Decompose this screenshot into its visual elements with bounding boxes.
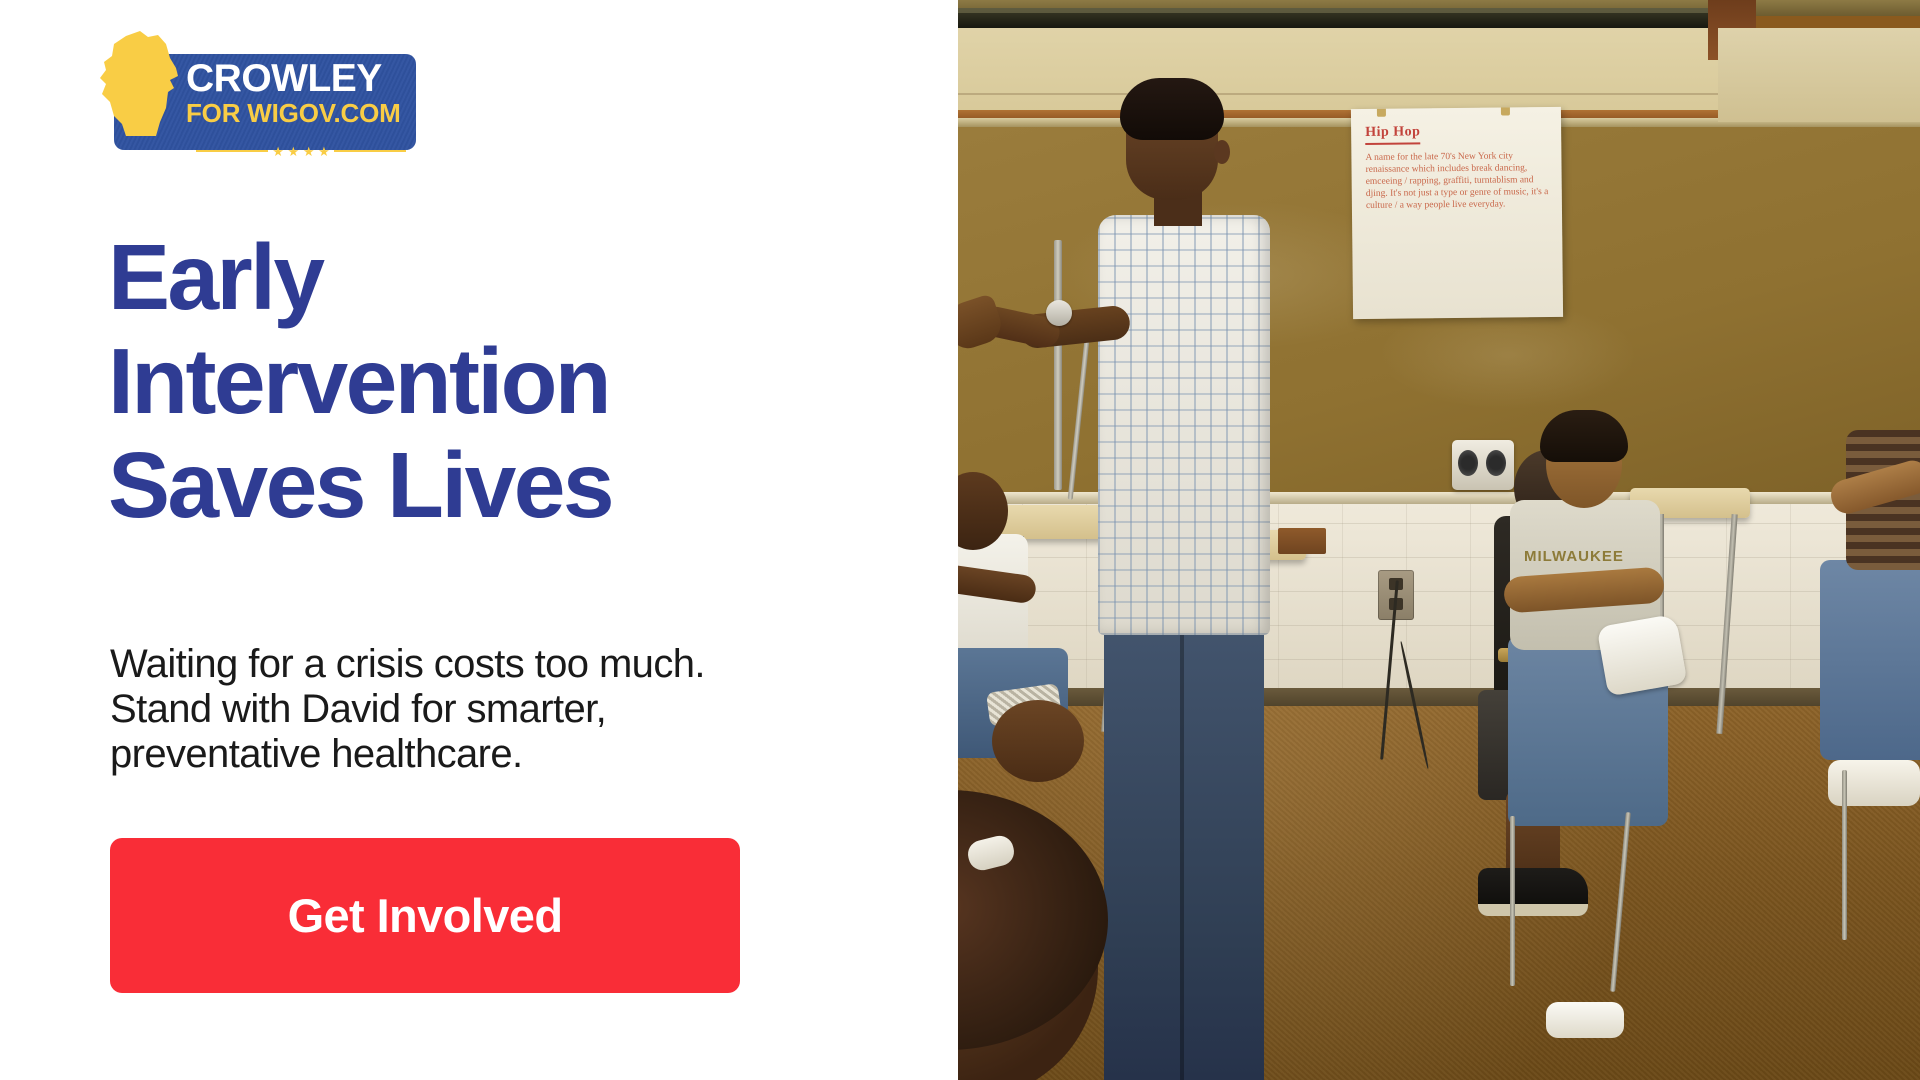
classroom-photo: Hip Hop A name for the late 70's New Yor… <box>958 0 1920 1080</box>
subheadline-line-3: preventative healthcare. <box>110 732 910 777</box>
student-milwaukee-shoe-up <box>1597 614 1688 697</box>
flipchart-paper: Hip Hop A name for the late 70's New Yor… <box>1351 107 1563 319</box>
student-center-shoe-sole <box>1478 904 1588 916</box>
logo-wordmark: CROWLEY FOR WIGOV.COM <box>186 58 414 128</box>
student-right-jeans <box>1820 560 1920 760</box>
content-panel: CROWLEY FOR WIGOV.COM ★ ★ ★ ★ Early Inte… <box>0 0 958 1080</box>
chair-leg-3 <box>1842 770 1847 940</box>
subheadline-line-2: Stand with David for smarter, <box>110 687 910 732</box>
portable-speaker <box>1452 440 1514 490</box>
speaker-ear <box>1214 140 1230 164</box>
logo-stars-glyphs: ★ ★ ★ ★ <box>272 145 329 158</box>
logo-star-row: ★ ★ ★ ★ <box>196 144 406 158</box>
campaign-logo[interactable]: CROWLEY FOR WIGOV.COM ★ ★ ★ ★ <box>96 26 416 150</box>
wall-plate <box>1278 528 1326 554</box>
subheadline: Waiting for a crisis costs too much. Sta… <box>110 642 910 777</box>
student-shirt-text: MILWAUKEE <box>1524 548 1646 565</box>
wall-right-upper <box>1718 28 1920 122</box>
speaker-jeans <box>1104 620 1264 1080</box>
subheadline-line-1: Waiting for a crisis costs too much. <box>110 642 910 687</box>
landing-page: CROWLEY FOR WIGOV.COM ★ ★ ★ ★ Early Inte… <box>0 0 1920 1080</box>
flipchart-title: Hip Hop <box>1365 124 1420 145</box>
speaker-plaid-shirt <box>1098 215 1270 635</box>
flipchart-clip-right <box>1501 107 1510 116</box>
student-left-knee <box>992 700 1084 782</box>
student-milwaukee-shoe-down <box>1546 1002 1624 1038</box>
flipchart-clip-left <box>1377 107 1386 117</box>
get-involved-button[interactable]: Get Involved <box>110 838 740 993</box>
speaker-cone-left <box>1458 450 1478 476</box>
headline-line-1: Early <box>108 225 908 329</box>
page-title: Early Intervention Saves Lives <box>108 225 908 537</box>
chair-leg-1 <box>1510 816 1515 986</box>
flipchart-body: A name for the late 70's New York city r… <box>1365 150 1550 212</box>
speaker-wristwatch <box>1046 300 1072 326</box>
logo-line-2: FOR WIGOV.COM <box>186 99 414 128</box>
speaker-cone-right <box>1486 450 1506 476</box>
headline-line-3: Saves Lives <box>108 433 908 537</box>
logo-rule-right <box>334 150 406 152</box>
wisconsin-state-outline-icon <box>96 28 184 140</box>
student-milwaukee-hair <box>1540 410 1628 462</box>
headline-line-2: Intervention <box>108 329 908 433</box>
mic-stand-pole-1 <box>1054 240 1062 490</box>
logo-line-1: CROWLEY <box>186 58 414 99</box>
logo-rule-left <box>196 150 268 152</box>
speaker-hair <box>1120 78 1224 140</box>
light-highlight <box>958 8 1718 13</box>
